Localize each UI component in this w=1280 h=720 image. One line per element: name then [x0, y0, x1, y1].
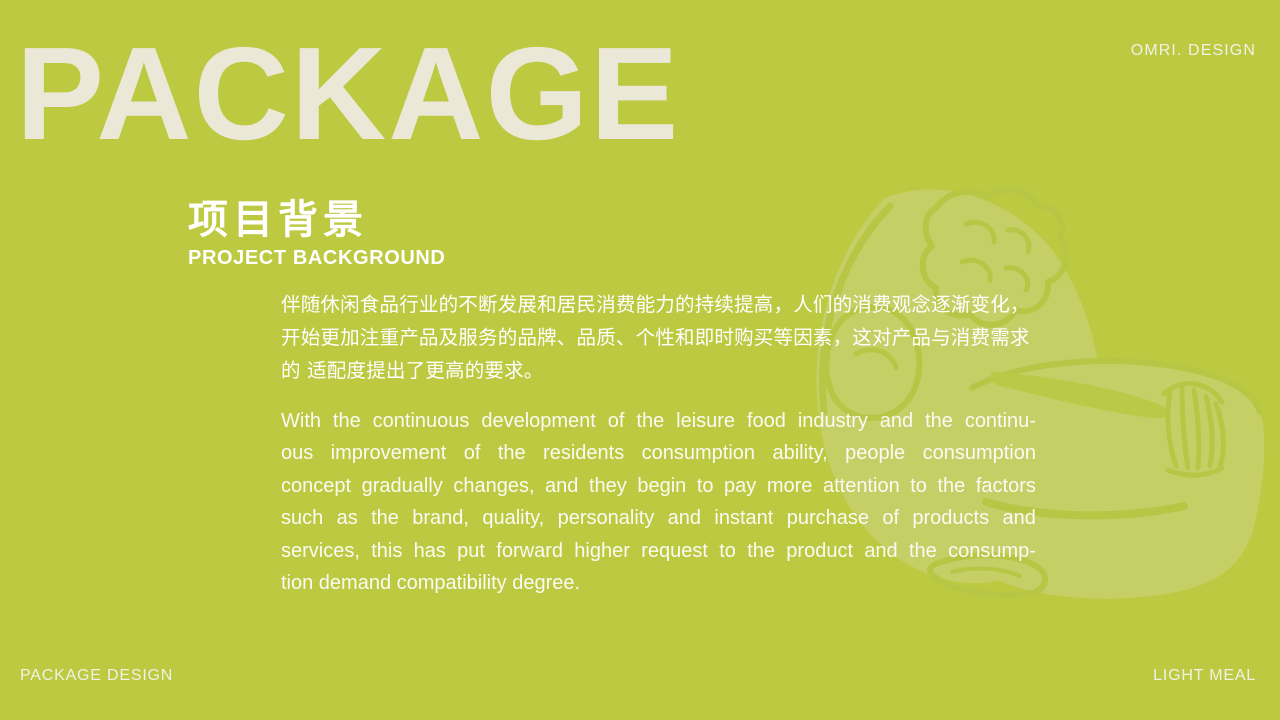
section-title-en: PROJECT BACKGROUND — [188, 247, 445, 270]
paragraph-english-line: conceptgraduallychanges,andtheybegintopa… — [281, 470, 1036, 502]
body-copy: 伴随休闲食品行业的不断发展和居民消费能力的持续提高，人们的消费观念逐渐变化， 开… — [281, 288, 1036, 599]
footer-right-label: LIGHT MEAL — [1153, 667, 1256, 685]
paragraph-english-line: Withthecontinuousdevelopmentoftheleisure… — [281, 405, 1036, 437]
paragraph-english-line: suchasthebrand,quality,personalityandins… — [281, 502, 1036, 534]
paragraph-chinese: 伴随休闲食品行业的不断发展和居民消费能力的持续提高，人们的消费观念逐渐变化， 开… — [281, 288, 1036, 387]
paragraph-english: Withthecontinuousdevelopmentoftheleisure… — [281, 405, 1036, 599]
paragraph-chinese-line: 适配度提出了更高的要求。 — [307, 359, 543, 382]
slide-canvas: PACKAGE OMRI. DESIGN 项目背景 PROJECT BACKGR… — [0, 0, 1280, 720]
section-title-cn: 项目背景 — [188, 198, 445, 243]
paragraph-chinese-line: 伴随休闲食品行业的不断发展和居民消费能力的持续提高，人们的消费观念逐渐变化， — [281, 293, 1030, 316]
paragraph-english-line: services,thishasputforwardhigherrequestt… — [281, 535, 1036, 567]
sprout-detail — [1168, 386, 1223, 468]
footer-left-label: PACKAGE DESIGN — [20, 667, 173, 685]
paragraph-english-line: tion demand compatibility degree. — [281, 567, 1036, 599]
paragraph-english-line: ousimprovementoftheresidentsconsumptiona… — [281, 437, 1036, 469]
page-title: PACKAGE — [16, 28, 680, 160]
section-heading: 项目背景 PROJECT BACKGROUND — [188, 198, 445, 270]
brand-label: OMRI. DESIGN — [1131, 42, 1256, 60]
